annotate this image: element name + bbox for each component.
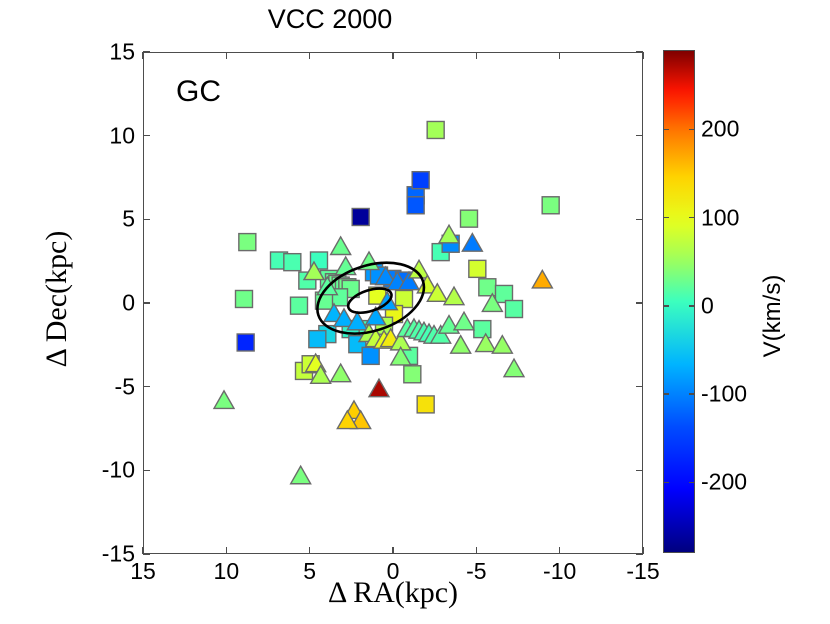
y-tick [636,386,643,387]
x-tick [226,52,227,59]
isophote-ellipses [144,53,643,554]
y-tick [636,51,643,52]
y-tick [143,302,150,303]
colorbar-tick [663,305,669,306]
colorbar-tick [689,217,695,218]
colorbar-tick [663,393,669,394]
x-axis-label: Δ RA(kpc) [143,576,643,610]
y-tick [636,302,643,303]
y-tick [143,219,150,220]
colorbar-tick [689,393,695,394]
colorbar-tick-label: -100 [701,381,747,408]
y-tick [143,386,150,387]
x-tick [559,547,560,554]
x-tick [309,52,310,59]
page-title: VCC 2000 [0,4,660,35]
y-tick [636,219,643,220]
colorbar-tick-label: -200 [701,469,747,496]
x-tick [392,547,393,554]
y-tick [636,135,643,136]
y-axis-label: Δ Dec(kpc) [40,134,74,464]
isophote-ellipse-2 [345,284,394,318]
scatter-plot-figure: VCC 2000 GC 151050-5-10-15151050-5-10-15… [0,0,830,624]
x-tick [392,52,393,59]
x-tick [142,52,143,59]
y-tick-label: 15 [57,39,135,66]
colorbar-tick [663,482,669,483]
y-tick [143,135,150,136]
colorbar-tick [689,482,695,483]
colorbar-tick-label: 0 [701,292,714,319]
x-tick [226,547,227,554]
y-tick [636,470,643,471]
y-tick [143,553,150,554]
x-tick [476,547,477,554]
colorbar-tick [663,217,669,218]
y-tick [636,553,643,554]
isophote-ellipse-1 [308,250,433,346]
x-tick [559,52,560,59]
colorbar-tick-label: 100 [701,204,739,231]
colorbar-tick-label: 200 [701,116,739,143]
x-tick [309,547,310,554]
colorbar-tick [689,305,695,306]
y-tick [143,470,150,471]
colorbar-tick [663,129,669,130]
x-tick [476,52,477,59]
plot-area: GC [143,52,643,554]
colorbar-tick [689,129,695,130]
y-tick [143,51,150,52]
y-tick-label: -15 [57,541,135,568]
colorbar [663,50,695,553]
colorbar-label: V(km/s) [759,186,787,446]
x-tick [642,52,643,59]
